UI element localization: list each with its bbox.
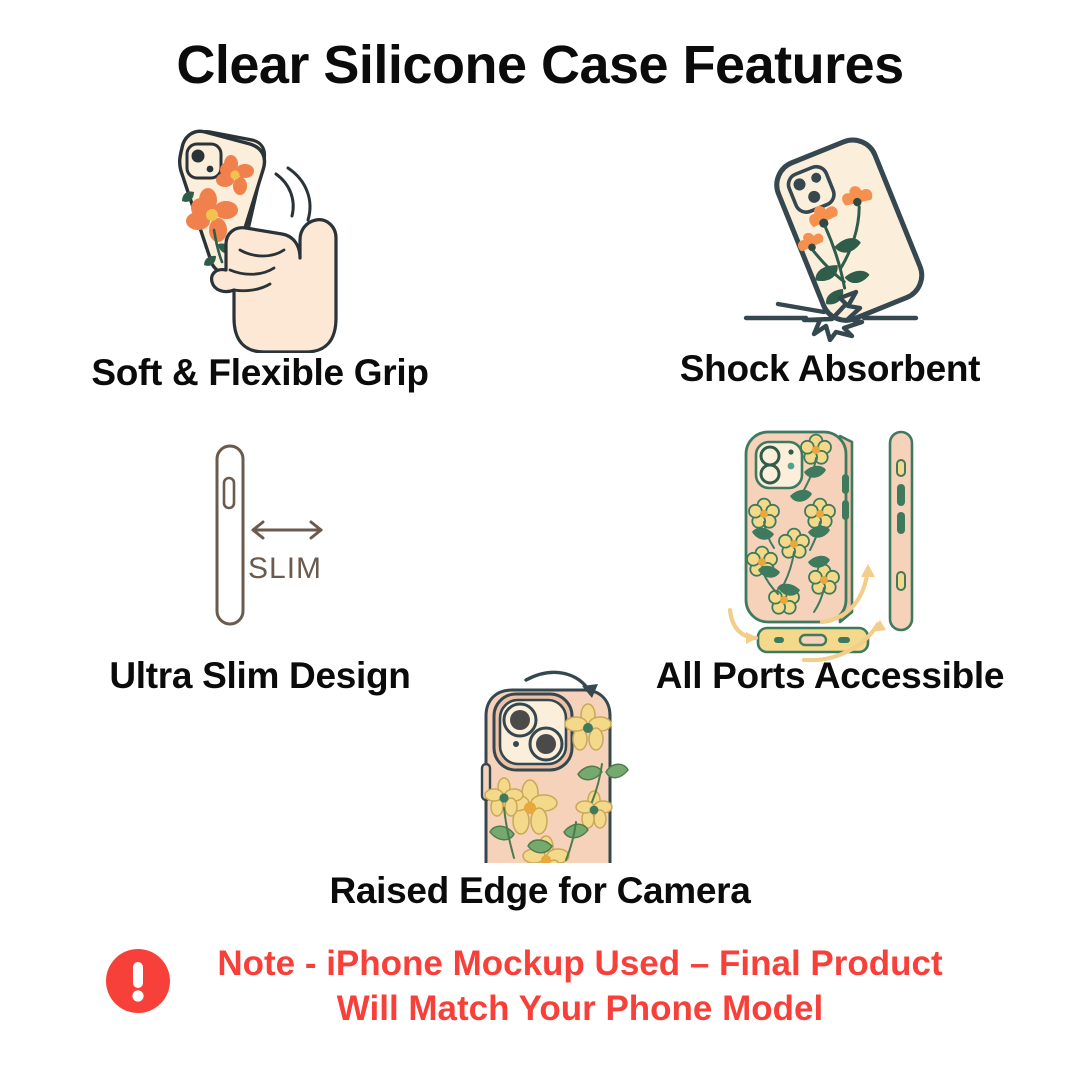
illustration-shock-absorbent [740, 122, 960, 342]
infographic-page: Clear Silicone Case Features [0, 0, 1080, 1080]
illustration-ultra-slim-design [195, 440, 365, 630]
exclamation-circle-icon [105, 948, 171, 1014]
feature-label-soft-flexible-grip: Soft & Flexible Grip [0, 352, 520, 394]
feature-label-all-ports-accessible: All Ports Accessible [580, 655, 1080, 697]
feature-label-raised-edge-for-camera: Raised Edge for Camera [230, 870, 850, 912]
page-title: Clear Silicone Case Features [0, 34, 1080, 96]
note-text: Note - iPhone Mockup Used – Final Produc… [185, 942, 975, 1032]
feature-label-shock-absorbent: Shock Absorbent [580, 348, 1080, 390]
illustration-soft-flexible-grip [130, 118, 390, 353]
slim-annotation-label: SLIM [248, 552, 322, 586]
feature-label-ultra-slim-design: Ultra Slim Design [0, 655, 520, 697]
note-banner: Note - iPhone Mockup Used – Final Produc… [0, 942, 1080, 1032]
illustration-raised-edge-for-camera [460, 668, 650, 863]
illustration-all-ports-accessible [712, 422, 944, 662]
